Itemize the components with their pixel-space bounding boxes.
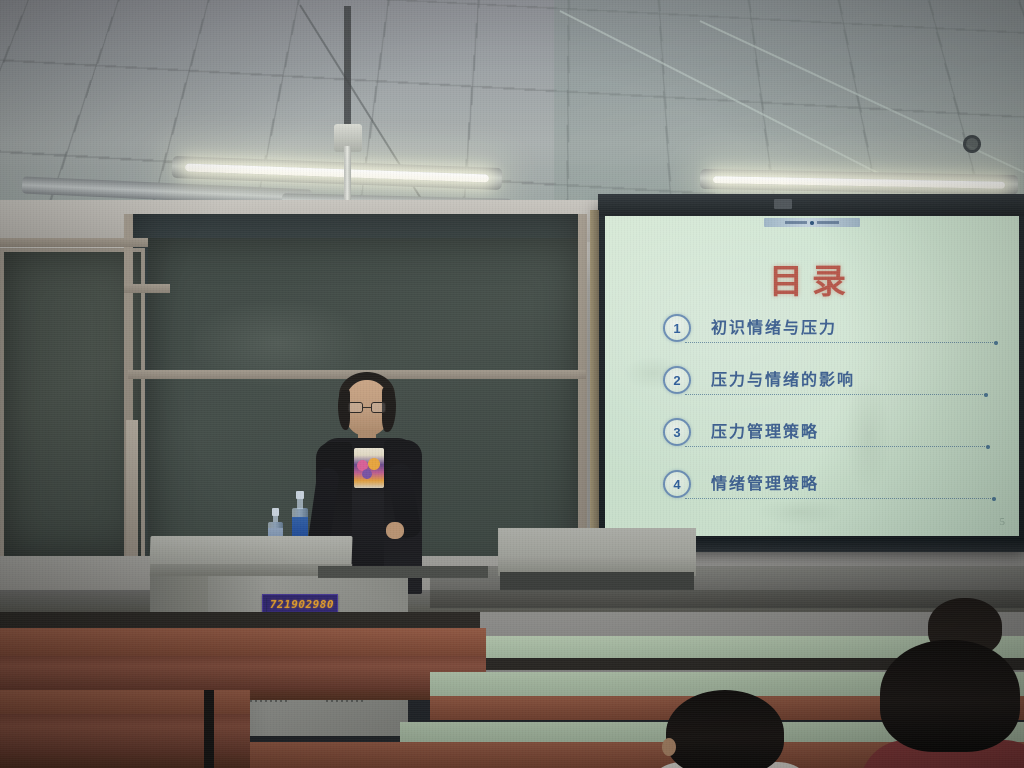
fan-downrod — [344, 146, 351, 208]
side-table-right — [498, 528, 696, 576]
projection-screen[interactable]: 目录 1 初识情绪与压力 2 压力与情绪的影响 3 压力管理策略 — [598, 204, 1024, 552]
student-front-right — [880, 640, 1020, 768]
toc-item[interactable]: 1 初识情绪与压力 — [663, 312, 993, 364]
toc-number-badge: 3 — [663, 418, 691, 446]
table-of-contents: 1 初识情绪与压力 2 压力与情绪的影响 3 压力管理策略 4 情绪管理策略 — [663, 312, 993, 520]
slide-title: 目录 — [605, 254, 1019, 303]
toc-number-badge: 2 — [663, 366, 691, 394]
desk-row-left-top — [0, 628, 486, 658]
toc-item[interactable]: 3 压力管理策略 — [663, 416, 993, 468]
tshirt-graphic-print — [354, 448, 384, 488]
toolbar-segment-right — [817, 221, 839, 224]
toc-leader-line — [685, 342, 995, 343]
screen-top-frame — [598, 194, 1024, 216]
student-ear — [662, 738, 676, 756]
presentation-toolbar[interactable] — [764, 218, 860, 227]
blackboard-track-stub — [124, 284, 170, 293]
screen-sensor-icon — [774, 199, 792, 209]
student-hair — [880, 640, 1020, 752]
podium-worktop — [149, 536, 352, 566]
toc-leader-line — [685, 498, 993, 499]
blackboard-frame-vertical-right — [578, 214, 587, 580]
slide-surface[interactable]: 目录 1 初识情绪与压力 2 压力与情绪的影响 3 压力管理策略 — [605, 216, 1019, 536]
slide-page-number: 5 — [1000, 516, 1006, 528]
toc-leader-line — [685, 446, 987, 447]
ceiling-camera-icon — [963, 135, 985, 155]
asset-tag-number: 721902980 — [270, 598, 334, 611]
toc-item[interactable]: 2 压力与情绪的影响 — [663, 364, 993, 416]
glasses-icon — [348, 402, 386, 413]
toc-item-label: 情绪管理策略 — [711, 470, 819, 494]
under-screen-ledge-shadow — [430, 590, 1024, 608]
toc-leader-line — [685, 394, 985, 395]
toc-item-label: 压力与情绪的影响 — [711, 366, 855, 390]
toc-number-badge: 4 — [663, 470, 691, 498]
toc-item-label: 压力管理策略 — [711, 418, 819, 442]
student-hair — [666, 690, 784, 768]
fan-power-cable — [344, 6, 351, 126]
side-table-right-edge — [500, 572, 694, 590]
toc-item[interactable]: 4 情绪管理策略 — [663, 468, 993, 520]
toc-item-label: 初识情绪与压力 — [711, 314, 837, 338]
podium-keyboard-tray — [318, 566, 488, 578]
toolbar-cursor-dot-icon — [810, 221, 814, 225]
classroom-photo: 目录 1 初识情绪与压力 2 压力与情绪的影响 3 压力管理策略 — [0, 0, 1024, 768]
desk-gap-divider — [204, 690, 214, 768]
toc-number-badge: 1 — [663, 314, 691, 342]
blackboard-frame-top-left — [0, 238, 148, 247]
screen-left-edge — [590, 210, 599, 530]
student-front-left — [666, 690, 784, 768]
toolbar-segment-left — [785, 221, 807, 224]
